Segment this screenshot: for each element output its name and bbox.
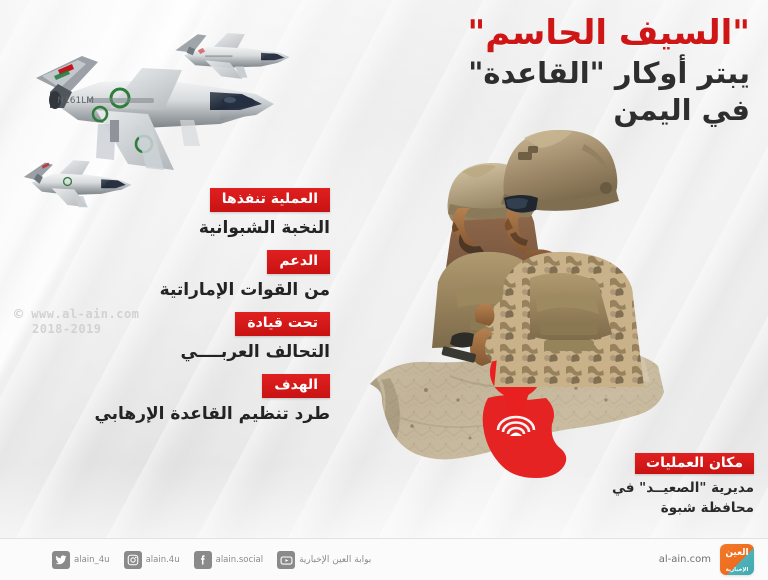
logo-line-1: العين [720, 548, 754, 558]
instagram-icon[interactable] [124, 551, 142, 569]
twitter-handle: alain_4u [74, 555, 110, 565]
infographic-canvas: N161LM [0, 0, 768, 580]
location-line-1: مديرية "الصعيــد" في [569, 479, 754, 499]
fact-value: النخبة الشبوانية [130, 217, 330, 239]
jet-bottom [24, 160, 132, 207]
twitter-icon[interactable] [52, 551, 70, 569]
fact-value: التحالف العربــــي [130, 341, 330, 363]
fact-value: طرد تنظيم القاعدة الإرهابي [130, 403, 330, 425]
al-ain-logo[interactable]: العين الإخبارية [720, 544, 754, 575]
facts-list: العملية تنفذها النخبة الشبوانية الدعم من… [130, 188, 330, 436]
youtube-channel-name: بوابة العين الإخبارية [299, 555, 371, 565]
watermark-site: www.al-ain.com [31, 307, 139, 321]
operation-location-callout: مكان العمليات مديرية "الصعيــد" في محافظ… [569, 452, 754, 518]
location-tag: مكان العمليات [635, 453, 754, 474]
instagram-handle: alain.4u [146, 555, 180, 565]
fact-item-executor: العملية تنفذها النخبة الشبوانية [130, 188, 330, 239]
social-link-instagram[interactable]: alain.4u [124, 551, 180, 569]
brand-group[interactable]: al-ain.com العين الإخبارية [659, 544, 754, 575]
fact-item-command: تحت قيادة التحالف العربــــي [130, 312, 330, 363]
copyright-icon: © [14, 305, 24, 323]
soldiers-image [432, 122, 682, 387]
logo-line-2: الإخبارية [720, 567, 754, 573]
fact-tag: الهدف [262, 374, 330, 398]
fact-tag: العملية تنفذها [210, 188, 330, 212]
youtube-icon[interactable] [277, 551, 295, 569]
fact-value: من القوات الإماراتية [130, 279, 330, 301]
facebook-handle: alain.social [216, 555, 263, 565]
headline-group: "السيف الحاسم" يبتر أوكار "القاعدة" في ا… [330, 14, 750, 129]
fact-tag: الدعم [267, 250, 330, 274]
social-link-facebook[interactable]: alain.social [194, 551, 263, 569]
copyright-watermark: © www.al-ain.com 2018-2019 [14, 306, 139, 337]
fact-item-goal: الهدف طرد تنظيم القاعدة الإرهابي [130, 374, 330, 425]
headline-line-3: في اليمن [330, 92, 750, 129]
location-line-2: محافظة شبوة [569, 499, 754, 519]
location-value: مديرية "الصعيــد" في محافظة شبوة [569, 479, 754, 518]
social-link-youtube[interactable]: بوابة العين الإخبارية [277, 551, 371, 569]
fact-tag: تحت قيادة [235, 312, 330, 336]
headline-line-2: يبتر أوكار "القاعدة" [330, 55, 750, 92]
svg-text:N161LM: N161LM [57, 96, 94, 106]
social-link-twitter[interactable]: alain_4u [52, 551, 110, 569]
facebook-icon[interactable] [194, 551, 212, 569]
watermark-years: 2018-2019 [32, 323, 139, 337]
social-links: alain_4u alain.4u alain.social [52, 551, 385, 569]
fact-item-support: الدعم من القوات الإماراتية [130, 250, 330, 301]
jet-top [175, 33, 289, 79]
headline-main: "السيف الحاسم" [330, 14, 750, 53]
brand-url[interactable]: al-ain.com [659, 554, 711, 565]
